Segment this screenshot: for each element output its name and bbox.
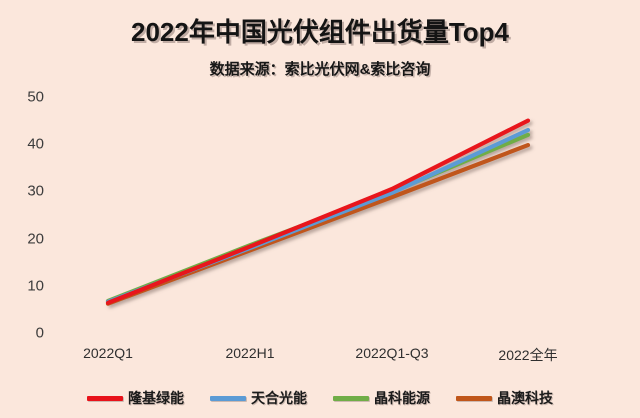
- x-axis-tick-label: 2022H1: [225, 345, 274, 361]
- legend-swatch-icon: [456, 396, 492, 401]
- legend-swatch-icon: [333, 396, 369, 401]
- chart-legend: 隆基绿能天合光能晶科能源晶澳科技: [0, 388, 640, 408]
- legend-item-label: 晶科能源: [374, 388, 430, 408]
- legend-item-label: 天合光能: [251, 388, 307, 408]
- legend-item[interactable]: 晶澳科技: [456, 388, 553, 408]
- legend-item[interactable]: 晶科能源: [333, 388, 430, 408]
- x-axis-tick-label: 2022Q1: [83, 345, 133, 361]
- legend-item[interactable]: 隆基绿能: [87, 388, 184, 408]
- legend-swatch-icon: [87, 396, 123, 401]
- legend-item[interactable]: 天合光能: [210, 388, 307, 408]
- x-axis-tick-label: 2022全年: [498, 345, 557, 365]
- legend-swatch-icon: [210, 396, 246, 401]
- chart-root: 2022年中国光伏组件出货量Top4 数据来源：索比光伏网&索比咨询 01020…: [0, 0, 640, 418]
- x-axis-tick-label: 2022Q1-Q3: [355, 345, 428, 361]
- legend-item-label: 隆基绿能: [128, 388, 184, 408]
- legend-item-label: 晶澳科技: [497, 388, 553, 408]
